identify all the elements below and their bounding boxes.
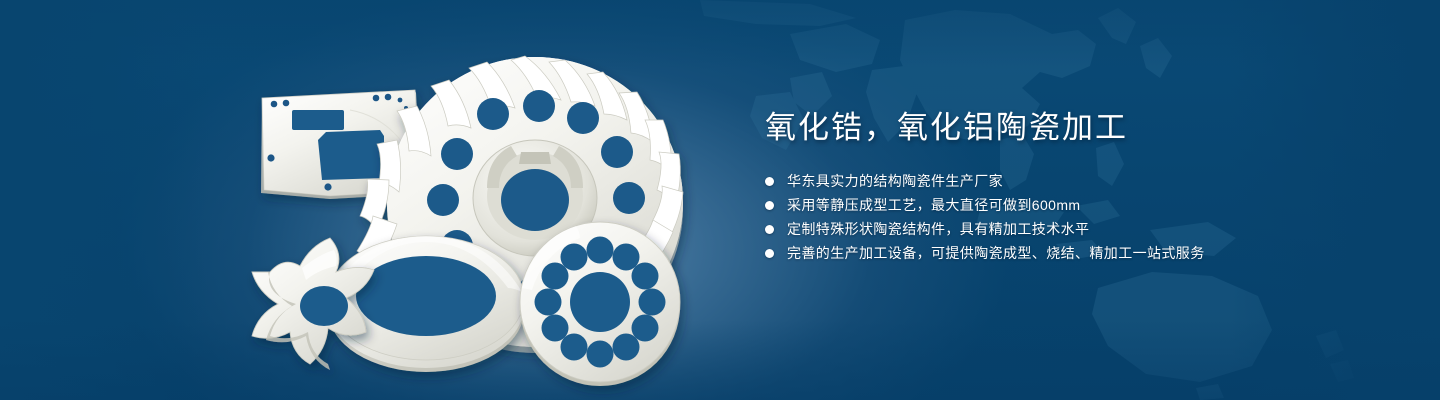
feature-text-1: 华东具实力的结构陶瓷件生产厂家 bbox=[787, 173, 1003, 189]
feature-text-4: 完善的生产加工设备，可提供陶瓷成型、烧结、精加工一站式服务 bbox=[787, 245, 1205, 261]
feature-item-2: 采用等静压成型工艺，最大直径可做到600mm bbox=[765, 198, 1385, 213]
feature-list: 华东具实力的结构陶瓷件生产厂家 采用等静压成型工艺，最大直径可做到600mm 定… bbox=[765, 174, 1385, 261]
bullet-dot-icon bbox=[765, 177, 774, 186]
banner-headline: 氧化锆，氧化铝陶瓷加工 bbox=[765, 108, 1385, 148]
ceramic-products-image bbox=[230, 50, 700, 380]
bullet-dot-icon bbox=[765, 249, 774, 258]
bottom-vignette bbox=[0, 320, 1440, 400]
feature-item-1: 华东具实力的结构陶瓷件生产厂家 bbox=[765, 174, 1385, 189]
ceramic-perforated-disc bbox=[520, 222, 680, 386]
bullet-dot-icon bbox=[765, 225, 774, 234]
hero-banner: 氧化锆，氧化铝陶瓷加工 华东具实力的结构陶瓷件生产厂家 采用等静压成型工艺，最大… bbox=[0, 0, 1440, 400]
feature-item-4: 完善的生产加工设备，可提供陶瓷成型、烧结、精加工一站式服务 bbox=[765, 246, 1385, 261]
banner-copy: 氧化锆，氧化铝陶瓷加工 华东具实力的结构陶瓷件生产厂家 采用等静压成型工艺，最大… bbox=[765, 108, 1385, 261]
feature-item-3: 定制特殊形状陶瓷结构件，具有精加工技术水平 bbox=[765, 222, 1385, 237]
top-vignette bbox=[0, 0, 1440, 70]
feature-text-3: 定制特殊形状陶瓷结构件，具有精加工技术水平 bbox=[787, 221, 1089, 237]
left-vignette bbox=[0, 0, 210, 400]
bullet-dot-icon bbox=[765, 201, 774, 210]
feature-text-2: 采用等静压成型工艺，最大直径可做到600mm bbox=[787, 197, 1080, 213]
ceramic-ring bbox=[328, 236, 524, 372]
